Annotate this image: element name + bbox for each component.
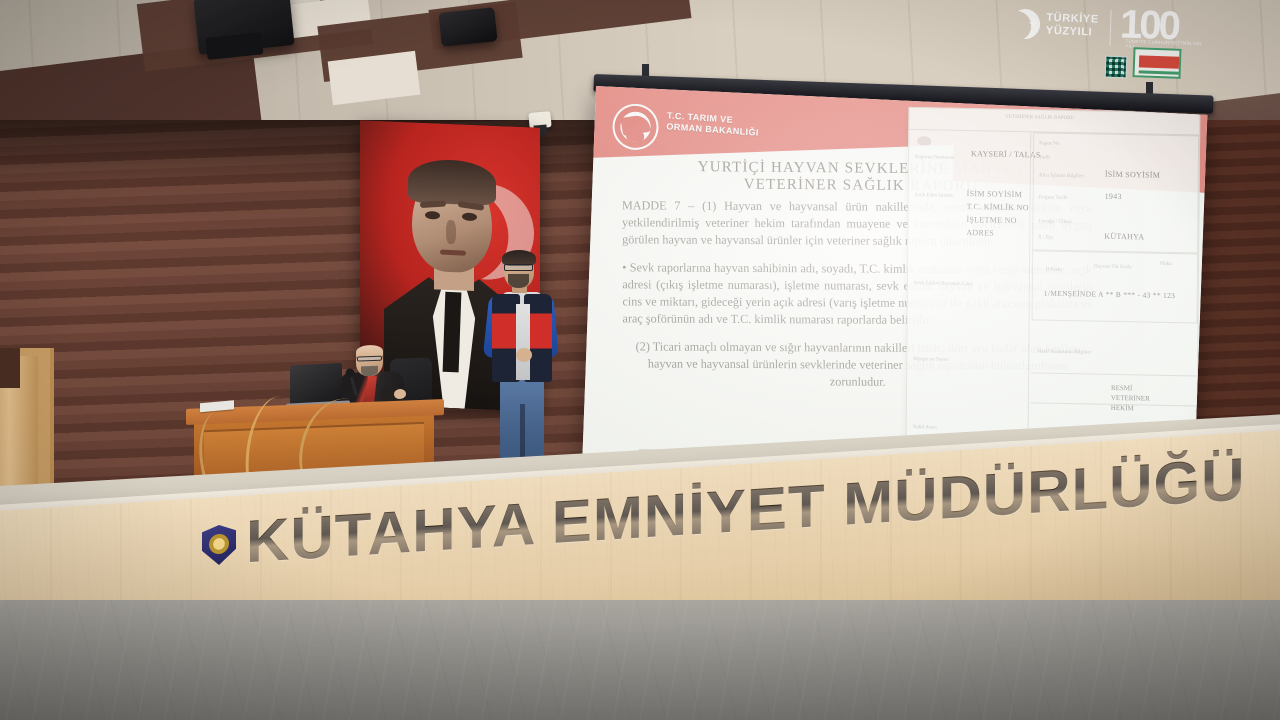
form-left-column bbox=[906, 130, 1031, 470]
form-field-label: Raporun Numarası bbox=[915, 154, 954, 161]
security-camera-icon bbox=[528, 111, 551, 129]
turkiye-yuzyili-branding: ★ TÜRKİYE YÜZYILI 100 TÜRKİYE CUMHURİYET… bbox=[1009, 1, 1211, 56]
form-field-value: KÜTAHYA bbox=[1104, 232, 1144, 242]
brand-divider bbox=[1109, 10, 1111, 46]
badge-green-bar bbox=[1139, 70, 1179, 74]
form-field-value: İSİM SOYİSİM bbox=[1105, 170, 1160, 180]
form-emblem-icon bbox=[917, 136, 931, 145]
floor bbox=[0, 600, 1280, 720]
form-field-value: İSİM SOYİSİM bbox=[967, 189, 1022, 199]
star-icon: ★ bbox=[1028, 19, 1038, 30]
certification-badge bbox=[1132, 47, 1181, 79]
form-signature-line: RESMİ bbox=[1111, 384, 1132, 393]
brand-slogan-line-1: TÜRKİYE bbox=[1046, 12, 1099, 26]
carpet-texture bbox=[0, 600, 1280, 720]
brand-slogan-line-2: YÜZYILI bbox=[1046, 24, 1099, 38]
form-section-label: Nakil Vasıtasının Bilgileri bbox=[1037, 348, 1091, 355]
form-divider bbox=[1031, 372, 1197, 376]
form-field-label: Menşei ve Sayısı bbox=[913, 356, 948, 363]
form-table-header: İl Kodu bbox=[1046, 267, 1062, 273]
form-field-label: Uyruğu / Ülkesi bbox=[1038, 218, 1071, 225]
form-field-label: Rapor No bbox=[1039, 140, 1059, 146]
form-field-value: T.C. KİMLİK NO bbox=[967, 202, 1029, 212]
brand-slogan: TÜRKİYE YÜZYILI bbox=[1046, 12, 1099, 39]
form-field-value: ADRES bbox=[966, 228, 994, 238]
glasses-icon bbox=[357, 356, 382, 362]
form-field-value: KAYSERİ / TALAS bbox=[971, 149, 1041, 159]
form-signature-line: VETERİNER bbox=[1111, 394, 1150, 404]
form-field-label: İl / İlçe bbox=[1038, 234, 1053, 240]
form-field-label: Alıcı İşletme Bilgileri bbox=[1039, 172, 1085, 179]
form-field-label: Sevk Eden İşletme bbox=[915, 192, 954, 199]
form-table-box bbox=[1032, 250, 1199, 323]
form-title: VETERİNER SAĞLIK RAPORU bbox=[1005, 115, 1074, 121]
qr-code-icon bbox=[1105, 56, 1128, 79]
door-top-shadow bbox=[0, 348, 20, 388]
conference-hall-photo: T.C. TARIM VE ORMAN BAKANLIĞI YURTİÇİ HA… bbox=[0, 0, 1280, 720]
veterinary-health-certificate-form: VETERİNER SAĞLIK RAPORU Raporun Numarası… bbox=[905, 107, 1200, 473]
form-table-header: Plaka bbox=[1160, 261, 1172, 267]
glasses-icon bbox=[504, 264, 533, 271]
badge-red-bar bbox=[1139, 55, 1179, 68]
form-field-label: Sevk Edilen Hayvanın Cinsi bbox=[914, 280, 973, 287]
form-field-label: Tarih bbox=[1039, 154, 1050, 160]
ceiling-speaker-icon bbox=[438, 7, 497, 47]
form-field-label: Doğum Tarihi bbox=[1039, 194, 1068, 201]
form-table-header: Hayvan Tür Kodu bbox=[1094, 264, 1132, 271]
form-field-value: 1943 bbox=[1105, 192, 1122, 201]
form-signature-line: HEKİM bbox=[1111, 404, 1134, 413]
form-field-value: İŞLETME NO bbox=[966, 215, 1016, 225]
form-field-label: Nakil Aracı bbox=[913, 424, 937, 430]
